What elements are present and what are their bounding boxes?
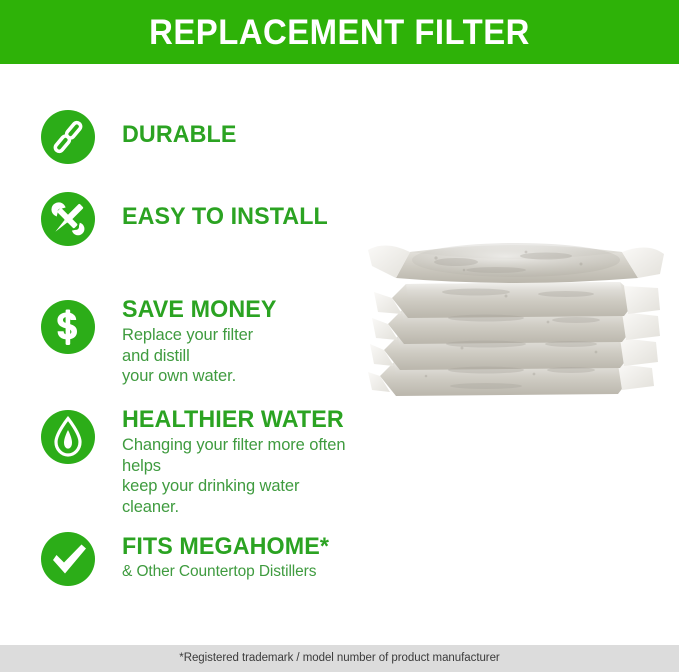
feature-subtitle: & Other Countertop Distillers	[122, 562, 335, 581]
chain-link-icon	[41, 110, 95, 164]
feature-subtitle: Replace your filter and distill your own…	[122, 325, 281, 386]
feature-title: SAVE MONEY	[122, 297, 276, 322]
page-title: REPLACEMENT FILTER	[149, 15, 530, 50]
footer-bar: *Registered trademark / model number of …	[0, 645, 679, 672]
header-banner: REPLACEMENT FILTER	[0, 0, 679, 64]
feature-title: DURABLE	[122, 122, 236, 147]
dollar-sign-icon	[41, 300, 95, 354]
feature-text-durable: DURABLE	[122, 122, 240, 147]
feature-text-easy-install: EASY TO INSTALL	[122, 204, 334, 229]
footer-disclaimer: *Registered trademark / model number of …	[179, 653, 499, 665]
feature-text-fits-megahome: FITS MEGAHOME* & Other Countertop Distil…	[122, 534, 335, 581]
product-photo-filter-bag-stack	[366, 226, 666, 421]
water-drop-icon	[41, 410, 95, 464]
wrench-screwdriver-icon	[41, 192, 95, 246]
feature-title: FITS MEGAHOME*	[122, 534, 329, 559]
feature-subtitle: Changing your filter more often helps ke…	[122, 435, 351, 517]
feature-text-save-money: SAVE MONEY Replace your filter and disti…	[122, 297, 281, 387]
feature-title: HEALTHIER WATER	[122, 407, 344, 432]
checkmark-icon	[41, 532, 95, 586]
infographic-page: REPLACEMENT FILTER DURABLE	[0, 0, 679, 672]
feature-title: EASY TO INSTALL	[122, 204, 328, 229]
feature-text-healthier-water: HEALTHIER WATER Changing your filter mor…	[122, 407, 351, 517]
